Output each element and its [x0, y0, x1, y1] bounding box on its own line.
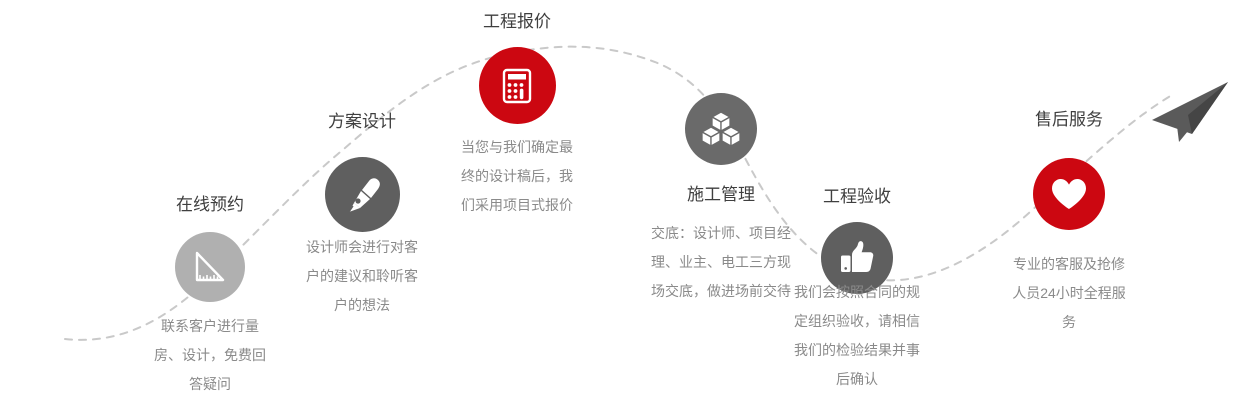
- step-1-desc-line-2: 房、设计，免费回: [110, 341, 310, 370]
- step-6-desc-line-2: 人员24小时全程服: [964, 279, 1174, 308]
- step-2-desc-line-1: 设计师会进行对客: [262, 233, 462, 262]
- step-2-title: 方案设计: [252, 110, 472, 134]
- process-flow-infographic: 在线预约 联系客户进行量 房、设计，免费回 答疑问 方案设计: [0, 0, 1245, 402]
- step-1-desc-line-3: 答疑问: [110, 370, 310, 399]
- step-4-icon-circle[interactable]: [685, 93, 757, 165]
- step-5-desc-line-3: 我们的检验结果并事: [742, 336, 972, 365]
- step-3-desc-line-1: 当您与我们确定最: [417, 133, 617, 162]
- heart-icon: [1047, 172, 1091, 216]
- step-2-icon-circle[interactable]: [325, 157, 400, 232]
- step-3-title: 工程报价: [407, 10, 627, 34]
- stacked-cubes-icon: [700, 108, 742, 150]
- step-1-title: 在线预约: [100, 193, 320, 217]
- step-5-desc-line-4: 后确认: [742, 365, 972, 394]
- step-3-desc-line-3: 们采用项目式报价: [417, 191, 617, 220]
- step-2-desc-line-3: 户的想法: [262, 291, 462, 320]
- step-3-desc-line-2: 终的设计稿后，我: [417, 162, 617, 191]
- step-6-desc-line-3: 务: [964, 308, 1174, 337]
- step-3-icon-circle[interactable]: [479, 47, 556, 124]
- triangle-ruler-icon: [190, 247, 230, 287]
- step-6-icon-circle[interactable]: [1033, 158, 1105, 230]
- step-5-title: 工程验收: [747, 185, 967, 209]
- step-1-icon-circle[interactable]: [175, 232, 245, 302]
- step-5-desc-line-1: 我们会按照合同的规: [742, 278, 972, 307]
- step-6-description: 专业的客服及抢修 人员24小时全程服 务: [964, 250, 1174, 337]
- step-6-desc-line-1: 专业的客服及抢修: [964, 250, 1174, 279]
- step-2-desc-line-2: 户的建议和聆听客: [262, 262, 462, 291]
- step-3-description: 当您与我们确定最 终的设计稿后，我 们采用项目式报价: [417, 133, 617, 220]
- step-5-description: 我们会按照合同的规 定组织验收，请相信 我们的检验结果并事 后确认: [742, 278, 972, 394]
- calculator-icon: [496, 65, 538, 107]
- fountain-pen-icon: [340, 173, 384, 217]
- step-2-description: 设计师会进行对客 户的建议和聆听客 户的想法: [262, 233, 462, 320]
- step-1-description: 联系客户进行量 房、设计，免费回 答疑问: [110, 312, 310, 399]
- step-4-desc-line-2: 理、业主、电工三方现: [601, 248, 841, 277]
- step-5-desc-line-2: 定组织验收，请相信: [742, 307, 972, 336]
- step-6-title: 售后服务: [959, 108, 1179, 132]
- step-4-desc-line-1: 交底：设计师、项目经: [601, 219, 841, 248]
- thumbs-up-icon: [836, 237, 878, 279]
